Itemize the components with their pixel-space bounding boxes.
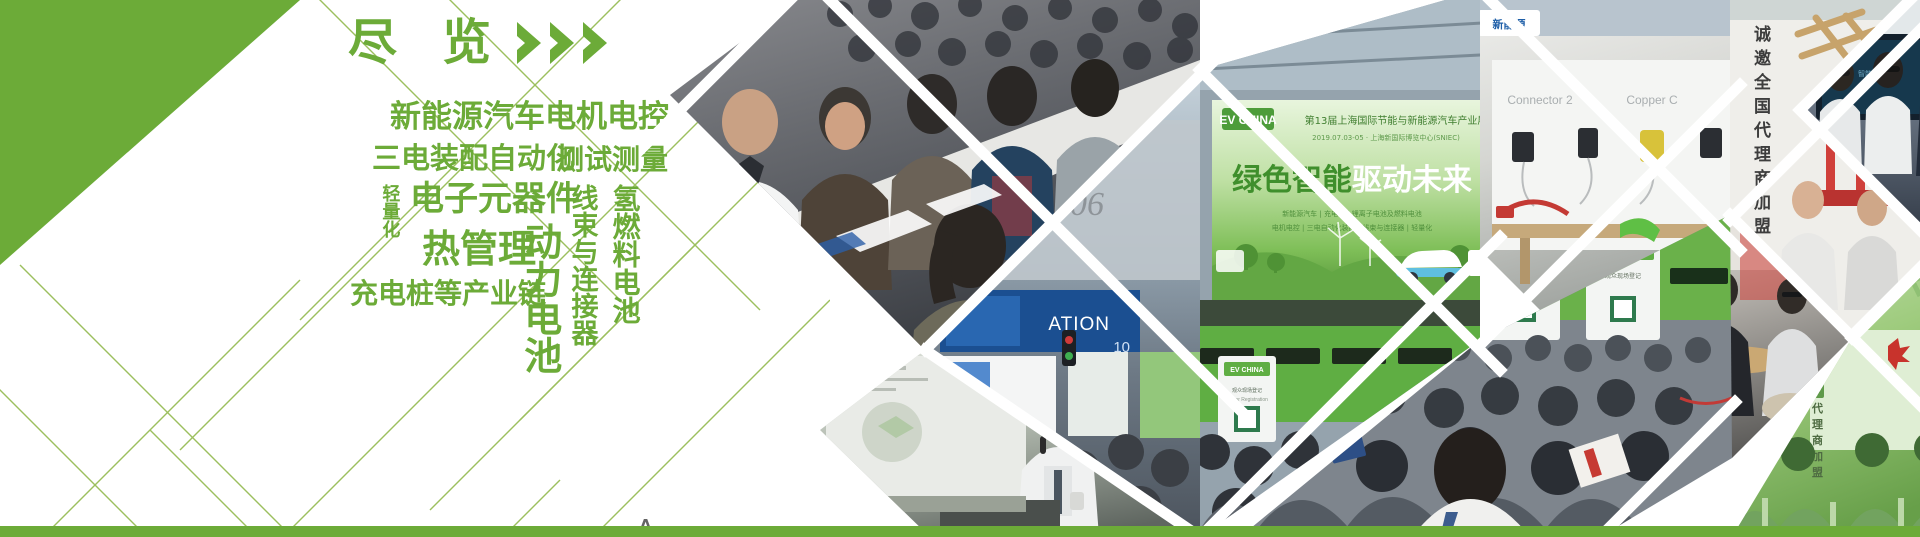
headline-text: 尽 览 — [348, 18, 505, 67]
photo-collage: 2006 SINCE ATION 10 — [640, 0, 1920, 537]
svg-text:理: 理 — [1754, 145, 1771, 165]
svg-text:商: 商 — [1812, 433, 1823, 447]
svg-text:Copper C: Copper C — [1626, 93, 1678, 107]
svg-text:ATION: ATION — [1048, 314, 1110, 335]
svg-text:第13届上海国际节能与新能源汽车产业展: 第13届上海国际节能与新能源汽车产业展 — [1305, 114, 1488, 127]
headline: 尽 览 — [348, 18, 611, 67]
svg-text:盟: 盟 — [1812, 466, 1823, 479]
keyword-hydrogen-fuel-cell: 氢燃料电池 — [610, 184, 639, 324]
svg-text:Connector 2: Connector 2 — [1507, 93, 1573, 107]
keyword-electronic-components: 电子元器件 — [410, 182, 580, 216]
svg-text:EV CHINA: EV CHINA — [1230, 367, 1263, 374]
chevron-right-icon — [515, 20, 545, 66]
keyword-power-battery: 动力电池 — [520, 222, 559, 374]
keyword-charging-pile-chain: 充电桩等产业链 — [350, 280, 546, 308]
chevron-right-icon — [548, 20, 578, 66]
svg-text:2019.07.03-05 · 上海新国际博览中心(SNIE: 2019.07.03-05 · 上海新国际博览中心(SNIEC) — [1312, 133, 1460, 142]
promo-banner: 尽 览 新能源汽车电机电控 三电装配自动化 测试测量 轻量化 电子元器件 热管理 — [0, 0, 1920, 537]
chevron-right-icon — [581, 20, 611, 66]
svg-text:代: 代 — [1753, 120, 1771, 141]
svg-text:理: 理 — [1812, 418, 1823, 431]
svg-text:国: 国 — [1754, 97, 1771, 117]
collage-canvas: 2006 SINCE ATION 10 — [640, 0, 1920, 537]
keyword-assembly-automation: 三电装配自动化 — [372, 144, 575, 173]
svg-text:驱动未来: 驱动未来 — [1352, 163, 1472, 198]
svg-text:代: 代 — [1811, 401, 1823, 415]
svg-text:全: 全 — [1753, 72, 1772, 93]
keyword-motor-control: 新能源汽车电机电控 — [390, 102, 669, 133]
keyword-lightweight: 轻量化 — [380, 184, 398, 238]
bottom-accent-bar — [0, 526, 1920, 537]
svg-text:诚: 诚 — [1754, 24, 1771, 45]
keyword-harness-connector: 线束与连接器 — [568, 184, 596, 346]
chevron-group — [515, 20, 611, 66]
svg-text:邀: 邀 — [1754, 48, 1771, 69]
svg-text:观众现场登记: 观众现场登记 — [1232, 387, 1262, 394]
